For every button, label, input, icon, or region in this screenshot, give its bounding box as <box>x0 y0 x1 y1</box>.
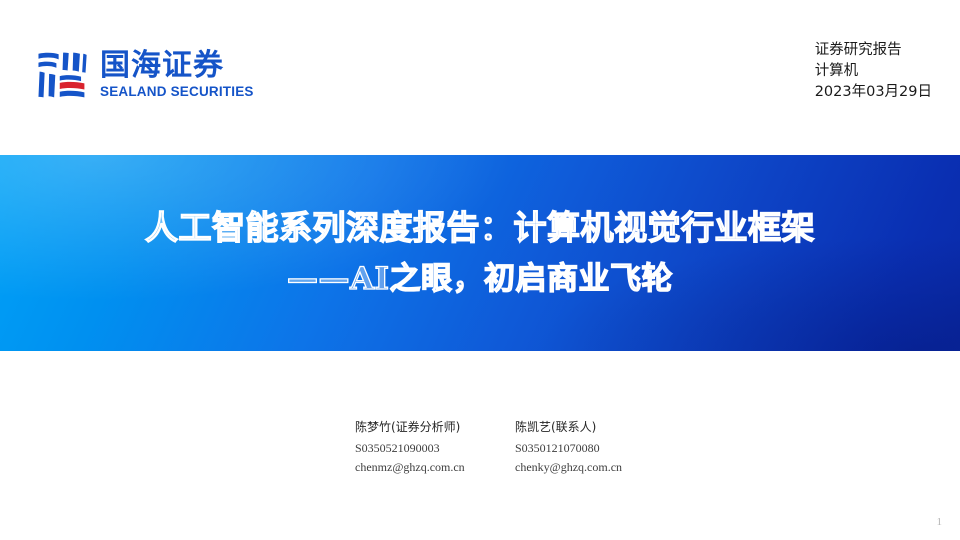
brand-name-en: SEALAND SECURITIES <box>100 85 254 99</box>
author-name: 陈凯艺(联系人) <box>515 418 645 437</box>
brand-name-cn: 国海证券 <box>100 51 254 81</box>
title-banner: 人工智能系列深度报告：计算机视觉行业框架 ——AI之眼，初启商业飞轮 <box>0 155 960 351</box>
author-block: 陈梦竹(证券分析师) S0350521090003 chenmz@ghzq.co… <box>355 418 645 477</box>
author-email[interactable]: chenky@ghzq.com.cn <box>515 458 645 477</box>
page-number: 1 <box>937 516 943 528</box>
author-email[interactable]: chenmz@ghzq.com.cn <box>355 458 485 477</box>
author-license-code: S0350121070080 <box>515 439 645 458</box>
report-subtitle-line-2: ——AI之眼，初启商业飞轮 <box>287 257 673 301</box>
header-meta-block: 证券研究报告 计算机 2023年03月29日 <box>815 40 932 103</box>
author-name: 陈梦竹(证券分析师) <box>355 418 485 437</box>
brand-logo-block: 国海证券 SEALAND SECURITIES <box>34 47 254 103</box>
page-header: 国海证券 SEALAND SECURITIES 证券研究报告 计算机 2023年… <box>0 0 960 155</box>
report-date-label: 2023年03月29日 <box>815 82 932 103</box>
brand-text-block: 国海证券 SEALAND SECURITIES <box>100 51 254 99</box>
author-entry: 陈梦竹(证券分析师) S0350521090003 chenmz@ghzq.co… <box>355 418 485 477</box>
author-license-code: S0350521090003 <box>355 439 485 458</box>
report-type-label: 证券研究报告 <box>815 40 932 61</box>
sealand-logo-icon <box>34 47 90 103</box>
report-title-line-1: 人工智能系列深度报告：计算机视觉行业框架 <box>145 205 815 251</box>
report-title-block: 人工智能系列深度报告：计算机视觉行业框架 ——AI之眼，初启商业飞轮 <box>0 155 960 351</box>
industry-label: 计算机 <box>815 61 932 82</box>
author-entry: 陈凯艺(联系人) S0350121070080 chenky@ghzq.com.… <box>515 418 645 477</box>
